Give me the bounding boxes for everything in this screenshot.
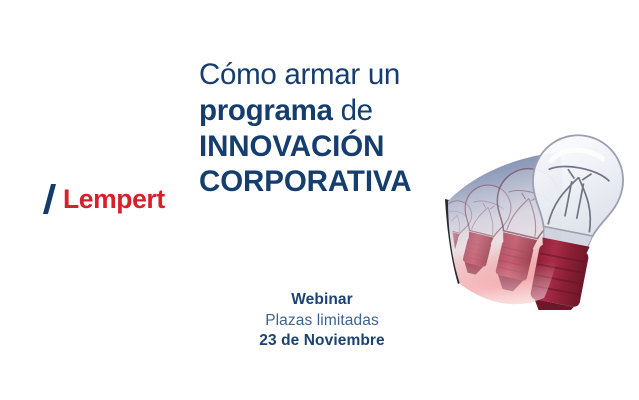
lightbulb-illustration [414, 70, 639, 310]
event-info-block: Webinar Plazas limitadas 23 de Noviembre [222, 290, 422, 352]
headline-block: Cómo armar un programa de INNOVACIÓN COR… [199, 57, 444, 200]
event-capacity-note: Plazas limitadas [222, 311, 422, 332]
brand-logo[interactable]: Lempert [44, 184, 165, 214]
event-date: 23 de Noviembre [222, 331, 422, 352]
brand-name: Lempert [63, 186, 165, 213]
slash-icon [44, 184, 56, 214]
headline-line-3: INNOVACIÓN [199, 129, 444, 165]
poster-canvas: Lempert Cómo armar un programa de INNOVA… [0, 0, 639, 400]
headline-emphasis: programa [199, 94, 333, 127]
headline-line-2-rest: de [333, 94, 373, 127]
headline-line-2: programa de [199, 93, 444, 129]
lightbulb-artwork [414, 70, 639, 310]
event-type-label: Webinar [222, 290, 422, 311]
headline-line-1: Cómo armar un [199, 57, 444, 93]
panel-bottom-fade [448, 152, 563, 304]
headline-line-4: CORPORATIVA [199, 164, 444, 200]
